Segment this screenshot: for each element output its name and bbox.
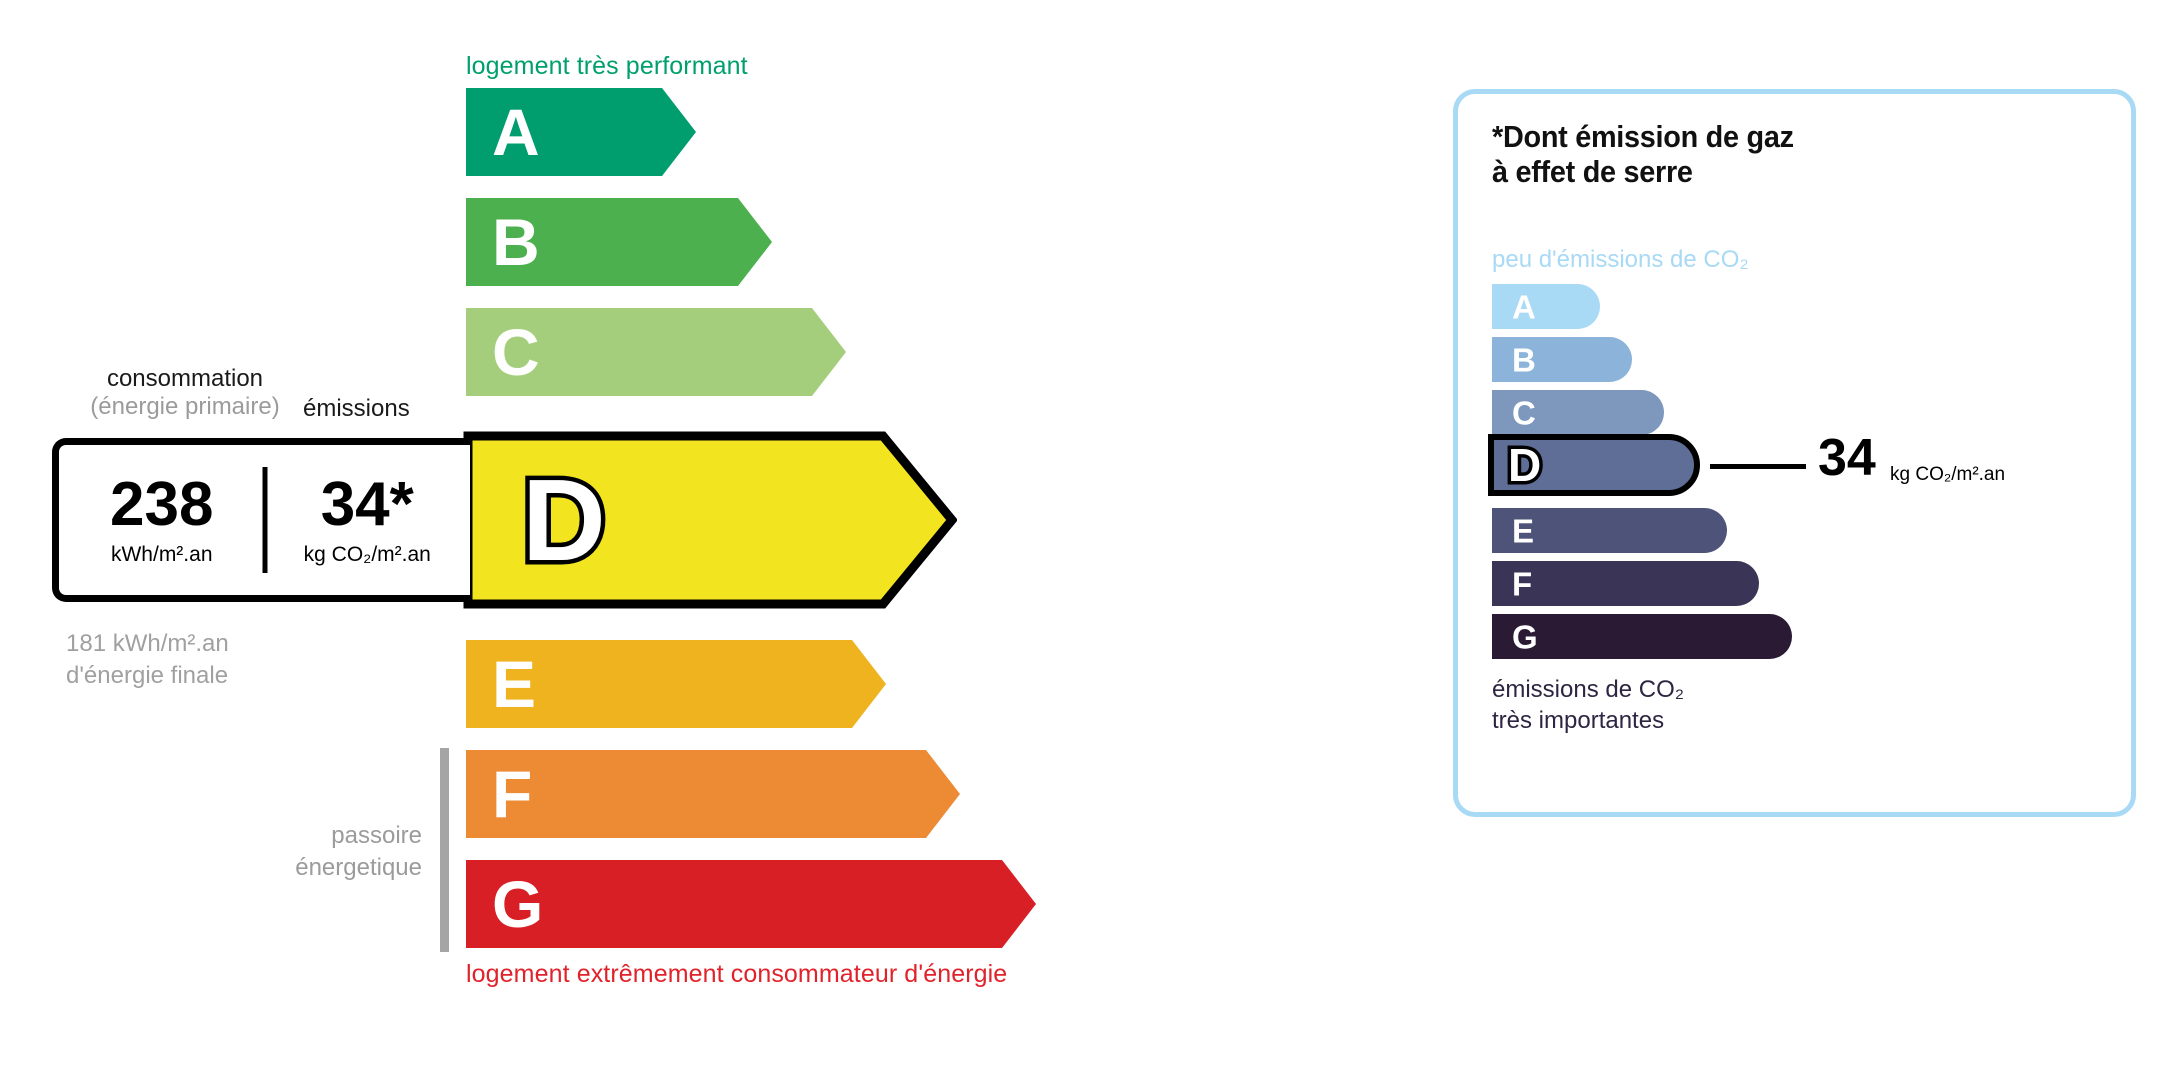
ges-panel-title: *Dont émission de gaz à effet de serre — [1492, 119, 1794, 189]
energy-band-b-arrow-tip — [738, 198, 772, 286]
energy-band-c-arrow-tip — [812, 308, 846, 396]
ges-bar-b-letter: B — [1512, 343, 1536, 376]
emissions-value: 34* — [321, 474, 414, 536]
energy-band-f-arrow-tip — [926, 750, 960, 838]
energy-values-box: 238 kWh/m².an 34* kg CO₂/m².an — [52, 438, 470, 602]
energy-band-g-arrow-tip — [1002, 860, 1036, 948]
ges-bar-c-letter: C — [1512, 396, 1536, 429]
energy-scale-top-caption: logement très performant — [466, 52, 748, 81]
passoire-label: passoire énergetique — [190, 820, 422, 883]
energy-band-f-letter: F — [492, 761, 532, 827]
energy-grade-letter: D — [522, 462, 606, 578]
ges-value: 34 — [1818, 432, 1876, 484]
consumption-label-sub: (énergie primaire) — [90, 393, 279, 420]
emissions-value-group: 34* kg CO₂/m².an — [265, 445, 471, 595]
energy-band-c: C — [466, 308, 846, 396]
energy-band-e-letter: E — [492, 651, 536, 717]
ges-bar-e-letter: E — [1512, 514, 1534, 547]
consumption-label: consommation (énergie primaire) — [70, 365, 300, 420]
energy-result-row: 238 kWh/m².an 34* kg CO₂/m².an D — [52, 428, 957, 612]
ges-value-unit: kg CO₂/m².an — [1890, 464, 2005, 486]
energy-band-g-letter: G — [492, 871, 543, 937]
passoire-indicator-bar — [440, 748, 449, 952]
energy-band-g-body — [466, 860, 1002, 948]
ges-top-caption: peu d'émissions de CO₂ — [1492, 246, 1749, 274]
ges-bar-f-letter: F — [1512, 567, 1532, 600]
ges-bottom-caption: émissions de CO₂ très importantes — [1492, 674, 1684, 736]
ges-bar-a-letter: A — [1512, 290, 1536, 323]
energy-band-a-letter: A — [492, 99, 540, 165]
ges-bar-d-selected: D — [1488, 434, 1700, 496]
energy-band-g: G — [466, 860, 1036, 948]
ges-bar-f: F — [1492, 561, 1759, 606]
energy-band-c-letter: C — [492, 319, 540, 385]
ges-panel: *Dont émission de gaz à effet de serre p… — [1453, 89, 2136, 817]
ges-grade-letter: D — [1508, 442, 1541, 488]
ges-leader-line — [1710, 464, 1806, 469]
consumption-unit: kWh/m².an — [111, 543, 213, 567]
energy-band-a-arrow-tip — [662, 88, 696, 176]
values-divider — [262, 467, 267, 573]
ges-bar-b: B — [1492, 337, 1632, 382]
ges-bar-g-letter: G — [1512, 620, 1538, 653]
energy-band-e-arrow-tip — [852, 640, 886, 728]
consumption-value-group: 238 kWh/m².an — [59, 445, 265, 595]
energy-band-a: A — [466, 88, 696, 176]
ges-bar-c: C — [1492, 390, 1664, 435]
ges-bar-a: A — [1492, 284, 1600, 329]
energy-scale-bottom-caption: logement extrêmement consommateur d'éner… — [466, 960, 1007, 989]
dpe-infographic: logement très performant A B C — [0, 0, 2169, 1079]
energy-band-f: F — [466, 750, 960, 838]
energy-band-e: E — [466, 640, 886, 728]
energy-band-b: B — [466, 198, 772, 286]
emissions-unit: kg CO₂/m².an — [304, 543, 431, 567]
consumption-value: 238 — [110, 474, 213, 536]
final-energy-note: 181 kWh/m².an d'énergie finale — [66, 628, 229, 691]
consumption-label-main: consommation — [107, 365, 263, 392]
energy-performance-scale: logement très performant A B C — [0, 0, 1400, 1079]
energy-band-b-letter: B — [492, 209, 540, 275]
ges-bar-g: G — [1492, 614, 1792, 659]
emissions-label: émissions — [303, 395, 410, 423]
ges-bar-e: E — [1492, 508, 1727, 553]
energy-band-f-body — [466, 750, 926, 838]
